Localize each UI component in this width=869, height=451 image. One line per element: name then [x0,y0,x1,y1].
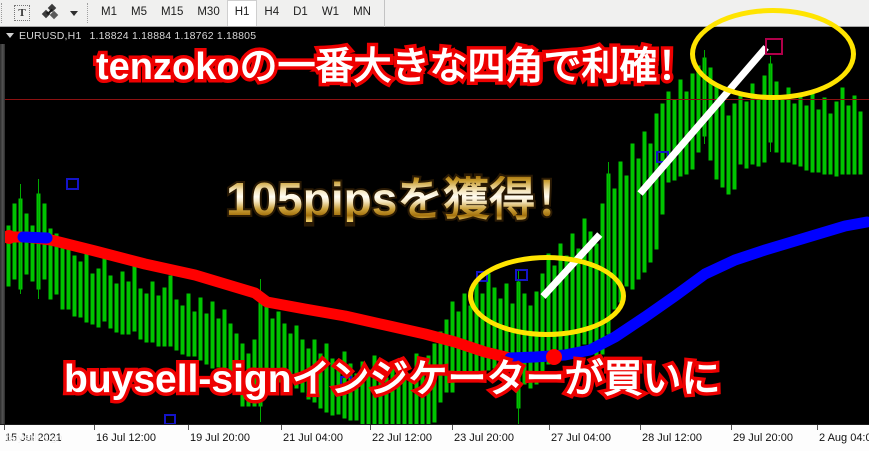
timeframe-group: M1 M5 M15 M30 H1 H4 D1 W1 MN [94,0,378,27]
headline-bottom-fill: buysell-signインジケーターが買いに [64,360,721,399]
time-label: 29 Jul 20:00 [733,432,793,444]
timeframe-m15[interactable]: M15 [154,0,190,26]
horizontal-price-line [5,99,869,100]
toolbar-grip[interactable] [1,3,7,23]
symbol-label: EURUSD,H1 [19,30,81,42]
text-tool-button[interactable]: T [9,1,35,25]
headline-top-fill: tenzokoの一番大きな四角で利確！ [96,48,696,86]
ma-blue-left-segment [23,237,47,238]
tenzoko-marker [67,179,78,189]
time-axis[interactable]: 15 Jul 2021 16 Jul 12:00 19 Jul 20:00 21… [0,424,869,451]
timeframe-m30[interactable]: M30 [190,0,226,26]
text-tool-icon: T [14,5,30,21]
time-label: 22 Jul 12:00 [372,432,432,444]
mt4-chart-screenshot: T M1 M5 M15 M30 H1 H4 D1 W1 MN [0,0,869,451]
objects-icon [42,5,59,21]
timeframe-m1[interactable]: M1 [94,0,124,26]
headline-middle: 105pipsを獲得！ 105pipsを獲得！ 105pipsを獲得！ [226,176,581,230]
toolbar-separator [87,3,88,23]
ma-downtrend-red [5,237,510,358]
timeframe-h4[interactable]: H4 [257,0,286,26]
tenzoko-marker [165,415,175,424]
time-label: 27 Jul 04:00 [551,432,611,444]
time-label: 16 Jul 12:00 [96,432,156,444]
headline-middle-fill: 105pipsを獲得！ [226,176,581,222]
toolbar-end-separator [384,0,385,27]
headline-top: tenzokoの一番大きな四角で利確！ tenzokoの一番大きな四角で利確！ … [96,48,696,91]
time-label: 2 Aug 04:00 [819,432,869,444]
time-label: 21 Jul 04:00 [283,432,343,444]
objects-button[interactable] [37,1,63,25]
buy-signal-circle [468,255,626,337]
timeframe-mn[interactable]: MN [346,0,378,26]
chevron-down-icon[interactable] [6,33,14,38]
indicator-name-label: buysell-sign [6,432,63,444]
time-label: 28 Jul 12:00 [642,432,702,444]
timeframe-m5[interactable]: M5 [124,0,154,26]
time-label: 23 Jul 20:00 [454,432,514,444]
timeframe-h1[interactable]: H1 [227,0,258,26]
time-label: 19 Jul 20:00 [190,432,250,444]
ohlc-values: 1.18824 1.18884 1.18762 1.18805 [89,30,256,42]
chevron-down-icon [70,11,78,16]
objects-dropdown-button[interactable] [65,1,81,25]
timeframe-w1[interactable]: W1 [315,0,346,26]
timeframe-d1[interactable]: D1 [286,0,315,26]
headline-bottom: buysell-signインジケーターが買いに buysell-signインジケ… [64,360,721,404]
tenzoko-exit-box [765,38,783,55]
